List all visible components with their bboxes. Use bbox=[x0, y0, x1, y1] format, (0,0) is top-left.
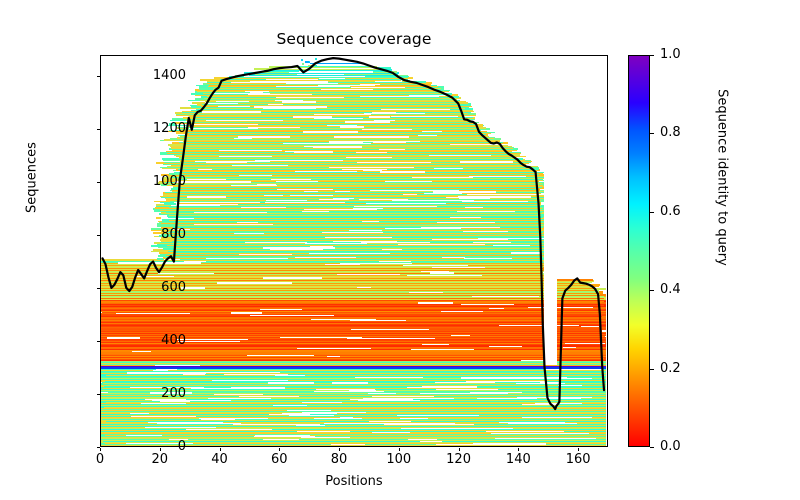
x-tick-label: 40 bbox=[190, 452, 250, 467]
y-tick-mark bbox=[97, 394, 101, 395]
x-tick-mark bbox=[339, 448, 340, 452]
x-tick-label: 120 bbox=[429, 452, 489, 467]
x-tick-label: 140 bbox=[488, 452, 548, 467]
x-tick-mark bbox=[518, 448, 519, 452]
x-tick-mark bbox=[220, 448, 221, 452]
x-tick-mark bbox=[399, 448, 400, 452]
colorbar-tick-label: 1.0 bbox=[660, 47, 720, 62]
x-tick-mark bbox=[160, 448, 161, 452]
y-tick-label: 1000 bbox=[66, 174, 186, 189]
colorbar-tick-mark bbox=[650, 212, 654, 213]
alignment-gap bbox=[183, 446, 223, 447]
colorbar-tick-mark bbox=[650, 369, 654, 370]
colorbar-gradient bbox=[628, 55, 650, 447]
colorbar-tick-label: 0.0 bbox=[660, 439, 720, 454]
x-tick-mark bbox=[100, 448, 101, 452]
x-tick-label: 80 bbox=[309, 452, 369, 467]
colorbar-tick-label: 0.8 bbox=[660, 125, 720, 140]
y-axis-label: Sequences bbox=[25, 28, 40, 328]
x-tick-mark bbox=[459, 448, 460, 452]
y-tick-label: 1200 bbox=[66, 121, 186, 136]
y-tick-label: 600 bbox=[66, 280, 186, 295]
x-tick-label: 0 bbox=[70, 452, 130, 467]
chart-title: Sequence coverage bbox=[100, 30, 608, 48]
y-tick-label: 400 bbox=[66, 333, 186, 348]
colorbar-tick-mark bbox=[650, 133, 654, 134]
y-tick-mark bbox=[97, 341, 101, 342]
x-tick-label: 100 bbox=[369, 452, 429, 467]
figure-canvas: Sequence coverage Sequences Positions Se… bbox=[0, 0, 800, 500]
colorbar-tick-label: 0.6 bbox=[660, 204, 720, 219]
y-tick-label: 1400 bbox=[66, 68, 186, 83]
y-tick-mark bbox=[97, 182, 101, 183]
x-tick-mark bbox=[279, 448, 280, 452]
colorbar-tick-mark bbox=[650, 447, 654, 448]
colorbar-tick-label: 0.4 bbox=[660, 282, 720, 297]
colorbar-tick-mark bbox=[650, 290, 654, 291]
y-tick-label: 800 bbox=[66, 227, 186, 242]
y-tick-mark bbox=[97, 76, 101, 77]
x-tick-label: 160 bbox=[548, 452, 608, 467]
x-tick-mark bbox=[578, 448, 579, 452]
x-tick-label: 60 bbox=[249, 452, 309, 467]
y-tick-mark bbox=[97, 235, 101, 236]
y-tick-mark bbox=[97, 129, 101, 130]
x-tick-label: 20 bbox=[130, 452, 190, 467]
colorbar-tick-mark bbox=[650, 55, 654, 56]
y-tick-label: 200 bbox=[66, 386, 186, 401]
x-axis-label: Positions bbox=[100, 474, 608, 489]
y-tick-mark bbox=[97, 288, 101, 289]
colorbar-tick-label: 0.2 bbox=[660, 361, 720, 376]
